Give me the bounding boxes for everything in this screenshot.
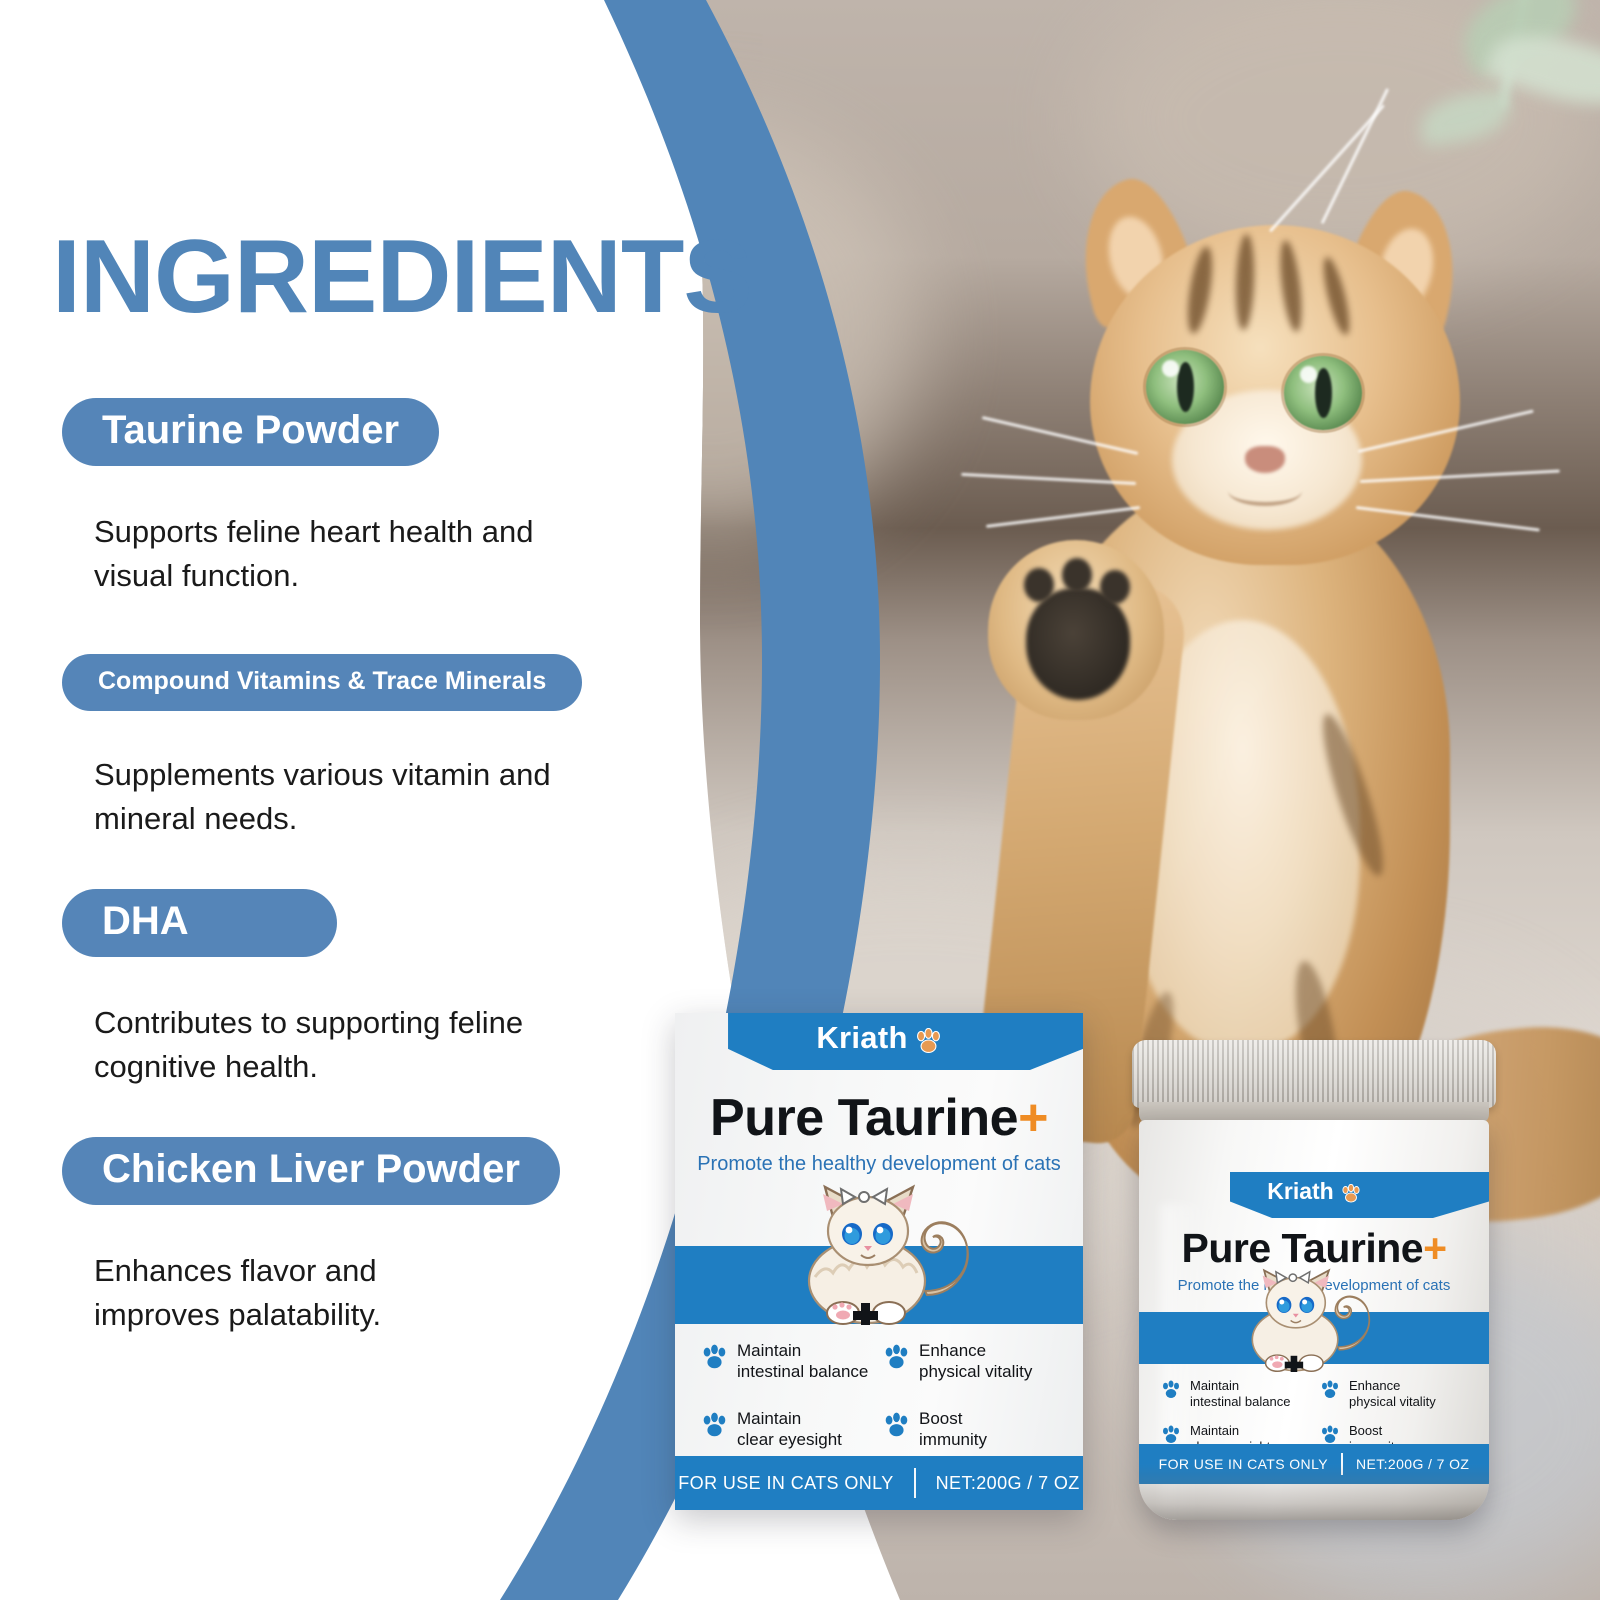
paw-print-icon [1161,1425,1181,1444]
box-brand-lockup: Kriath [675,1020,1083,1056]
jar-benefit-grid: Maintain intestinal balance Enhance phys… [1139,1372,1489,1454]
benefit-label: Enhance physical vitality [919,1341,1032,1382]
product-box-front: Kriath Pure Taurine+ Promote the healthy… [675,1013,1083,1510]
benefit-line-1: Maintain [1190,1423,1239,1438]
cat-mouth [1228,476,1302,506]
cat-toe [1100,570,1130,604]
cat-paw-pad [1026,588,1130,700]
ingredient-item-taurine-powder: Taurine Powder [62,398,640,466]
footer-net-weight: NET:200G / 7 OZ [916,1473,1080,1494]
page-title: INGREDIENTS [52,225,752,329]
jar-body: Kriath Pure Taurine+ [1139,1120,1489,1520]
paw-print-icon [1161,1380,1181,1399]
benefit-label: Boost immunity [919,1409,987,1450]
benefit-label: Maintain intestinal balance [1190,1378,1290,1409]
benefit-line-1: Boost [1349,1423,1382,1438]
ragdoll-kitten-mascot-icon [1227,1260,1397,1372]
benefit-line-2: intestinal balance [1190,1394,1290,1409]
benefit-item-maintain-clear-eyesight: Maintain clear eyesight [701,1409,883,1455]
cat-eye-glint [1300,366,1317,383]
paw-print-icon [701,1412,728,1437]
benefit-line-1: Maintain [1190,1378,1239,1393]
footer-divider [914,1468,916,1498]
ingredient-description: Contributes to supporting feline cogniti… [56,1001,640,1089]
product-jar: Kriath Pure Taurine+ [1125,1040,1503,1540]
jar-brand-lockup: Kriath [1139,1178,1489,1205]
benefit-line-2: clear eyesight [737,1430,842,1449]
ingredient-name-badge: DHA [62,889,337,957]
product-name-text: Pure Taurine [710,1089,1018,1147]
benefit-line-2: physical vitality [919,1362,1032,1381]
infographic-canvas: INGREDIENTS Taurine Powder Supports feli… [0,0,1600,1600]
paw-print-icon [701,1344,728,1369]
benefit-line-1: Boost [919,1409,962,1428]
ingredient-description: Enhances flavor and improves palatabilit… [56,1249,526,1337]
benefit-line-1: Maintain [737,1341,801,1360]
cat-eye-glint [1162,360,1179,377]
benefit-line-2: intestinal balance [737,1362,868,1381]
ingredient-name-badge: Compound Vitamins & Trace Minerals [62,654,582,711]
cat-toe [1024,568,1054,602]
jar-bottom-shadow [1139,1464,1489,1520]
cat-whisker [986,506,1140,528]
ingredient-description: Supplements various vitamin and mineral … [56,753,640,841]
cat-nose [1245,446,1285,473]
benefit-line-1: Maintain [737,1409,801,1428]
benefit-line-2: immunity [919,1430,987,1449]
ingredient-item-dha: DHA [62,889,640,957]
benefit-item-maintain-intestinal-balance: Maintain intestinal balance [701,1341,883,1387]
benefit-item-maintain-intestinal-balance: Maintain intestinal balance [1161,1378,1320,1409]
benefit-item-enhance-physical-vitality: Enhance physical vitality [1320,1378,1479,1409]
cat-toe [1062,558,1092,592]
benefit-line-1: Enhance [1349,1378,1400,1393]
cat-pupil-right [1315,368,1332,418]
box-benefit-grid: Maintain intestinal balance Enhance phys… [675,1335,1083,1455]
ingredient-description: Supports feline heart health and visual … [56,510,640,598]
box-footer-bar: FOR USE IN CATS ONLY NET:200G / 7 OZ [675,1456,1083,1510]
cat-pupil-left [1177,362,1194,412]
paw-print-icon [915,1026,942,1051]
paw-print-icon [883,1412,910,1437]
benefit-item-enhance-physical-vitality: Enhance physical vitality [883,1341,1065,1387]
ingredient-name-badge: Chicken Liver Powder [62,1137,560,1205]
ingredient-list: Taurine Powder Supports feline heart hea… [0,398,640,1337]
brand-name: Kriath [1267,1178,1333,1205]
ingredient-item-compound-vitamins: Compound Vitamins & Trace Minerals [62,654,640,711]
benefit-line-2: physical vitality [1349,1394,1436,1409]
box-product-name: Pure Taurine+ [675,1088,1083,1148]
product-plus-icon: + [1018,1089,1048,1147]
benefit-label: Maintain clear eyesight [737,1409,842,1450]
brand-name: Kriath [816,1020,907,1056]
ingredient-item-chicken-liver-powder: Chicken Liver Powder [62,1137,640,1205]
footer-use-text: FOR USE IN CATS ONLY [678,1473,913,1494]
jar-lid [1132,1040,1496,1108]
paw-print-icon [1320,1380,1340,1399]
paw-print-icon [883,1344,910,1369]
product-plus-icon: + [1423,1225,1446,1271]
benefit-label: Enhance physical vitality [1349,1378,1436,1409]
ingredient-name-badge: Taurine Powder [62,398,439,466]
paw-print-icon [1341,1182,1361,1201]
paw-print-icon [1320,1425,1340,1444]
ingredients-panel: INGREDIENTS Taurine Powder Supports feli… [0,0,640,1600]
benefit-item-boost-immunity: Boost immunity [883,1409,1065,1455]
benefit-label: Maintain intestinal balance [737,1341,868,1382]
jar-label: Kriath Pure Taurine+ [1139,1172,1489,1472]
benefit-line-1: Enhance [919,1341,986,1360]
ragdoll-kitten-mascot-icon [775,1173,1005,1325]
